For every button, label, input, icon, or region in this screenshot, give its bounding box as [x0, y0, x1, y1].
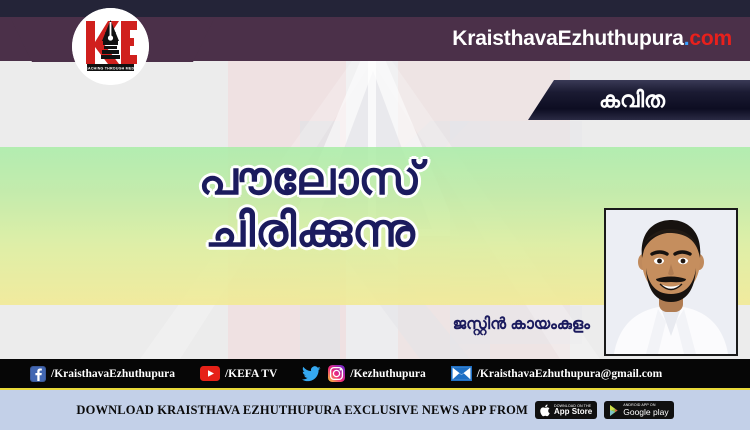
social-item-facebook[interactable]: /KraisthavaEzhuthupura [30, 359, 175, 388]
social-handle-email: /KraisthavaEzhuthupura@gmail.com [477, 368, 662, 380]
article-title: പൗലോസ് ചിരിക്കുന്നു [40, 152, 580, 257]
download-strip: DOWNLOAD KRAISTHAVA EZHUTHUPURA EXCLUSIV… [0, 390, 750, 430]
app-store-badge[interactable]: Download on the App Store [535, 401, 597, 419]
social-item-instagram[interactable]: /Kezhuthupura [328, 359, 425, 388]
title-line-2: ചിരിക്കുന്നു [40, 204, 580, 256]
site-name: KraisthavaEzhuthupura.com [452, 17, 732, 61]
title-line-1: പൗലോസ് [40, 152, 580, 204]
google-play-big: Google play [623, 408, 668, 417]
youtube-icon[interactable] [200, 366, 220, 381]
logo-tagline: REACHING THROUGH MEDIA [83, 67, 139, 71]
email-icon[interactable] [451, 366, 472, 381]
google-play-badge[interactable]: ANDROID APP ON Google play [604, 401, 673, 419]
category-label: കവിത [599, 89, 679, 111]
social-item-email[interactable]: /KraisthavaEzhuthupura@gmail.com [451, 359, 662, 388]
app-store-big: App Store [554, 408, 592, 416]
site-name-tld: com [689, 27, 732, 50]
google-play-icon [609, 404, 620, 417]
social-item-youtube[interactable]: /KEFA TV [200, 359, 277, 388]
ke-logo: REACHING THROUGH MEDIA [72, 8, 149, 85]
category-ribbon: കവിത [528, 80, 750, 120]
accent-divider [0, 388, 750, 390]
social-handle-instagram: /Kezhuthupura [350, 368, 425, 380]
social-handle-youtube: /KEFA TV [225, 368, 277, 380]
instagram-icon[interactable] [328, 365, 345, 382]
facebook-icon[interactable] [30, 366, 46, 382]
author-portrait [604, 208, 738, 356]
social-handle-facebook: /KraisthavaEzhuthupura [51, 368, 175, 380]
social-item-twitter[interactable] [302, 359, 321, 388]
twitter-icon[interactable] [302, 366, 321, 382]
article-author: ജസ്റ്റിൻ കായംകുളം [300, 316, 590, 334]
site-name-text: KraisthavaEzhuthupura [452, 27, 684, 50]
apple-icon [540, 404, 551, 417]
news-card-graphic: KraisthavaEzhuthupura.com REACHI [0, 0, 750, 430]
social-bar: /KraisthavaEzhuthupura /KEFA TV [0, 359, 750, 388]
download-text: DOWNLOAD KRAISTHAVA EZHUTHUPURA EXCLUSIV… [76, 403, 528, 418]
